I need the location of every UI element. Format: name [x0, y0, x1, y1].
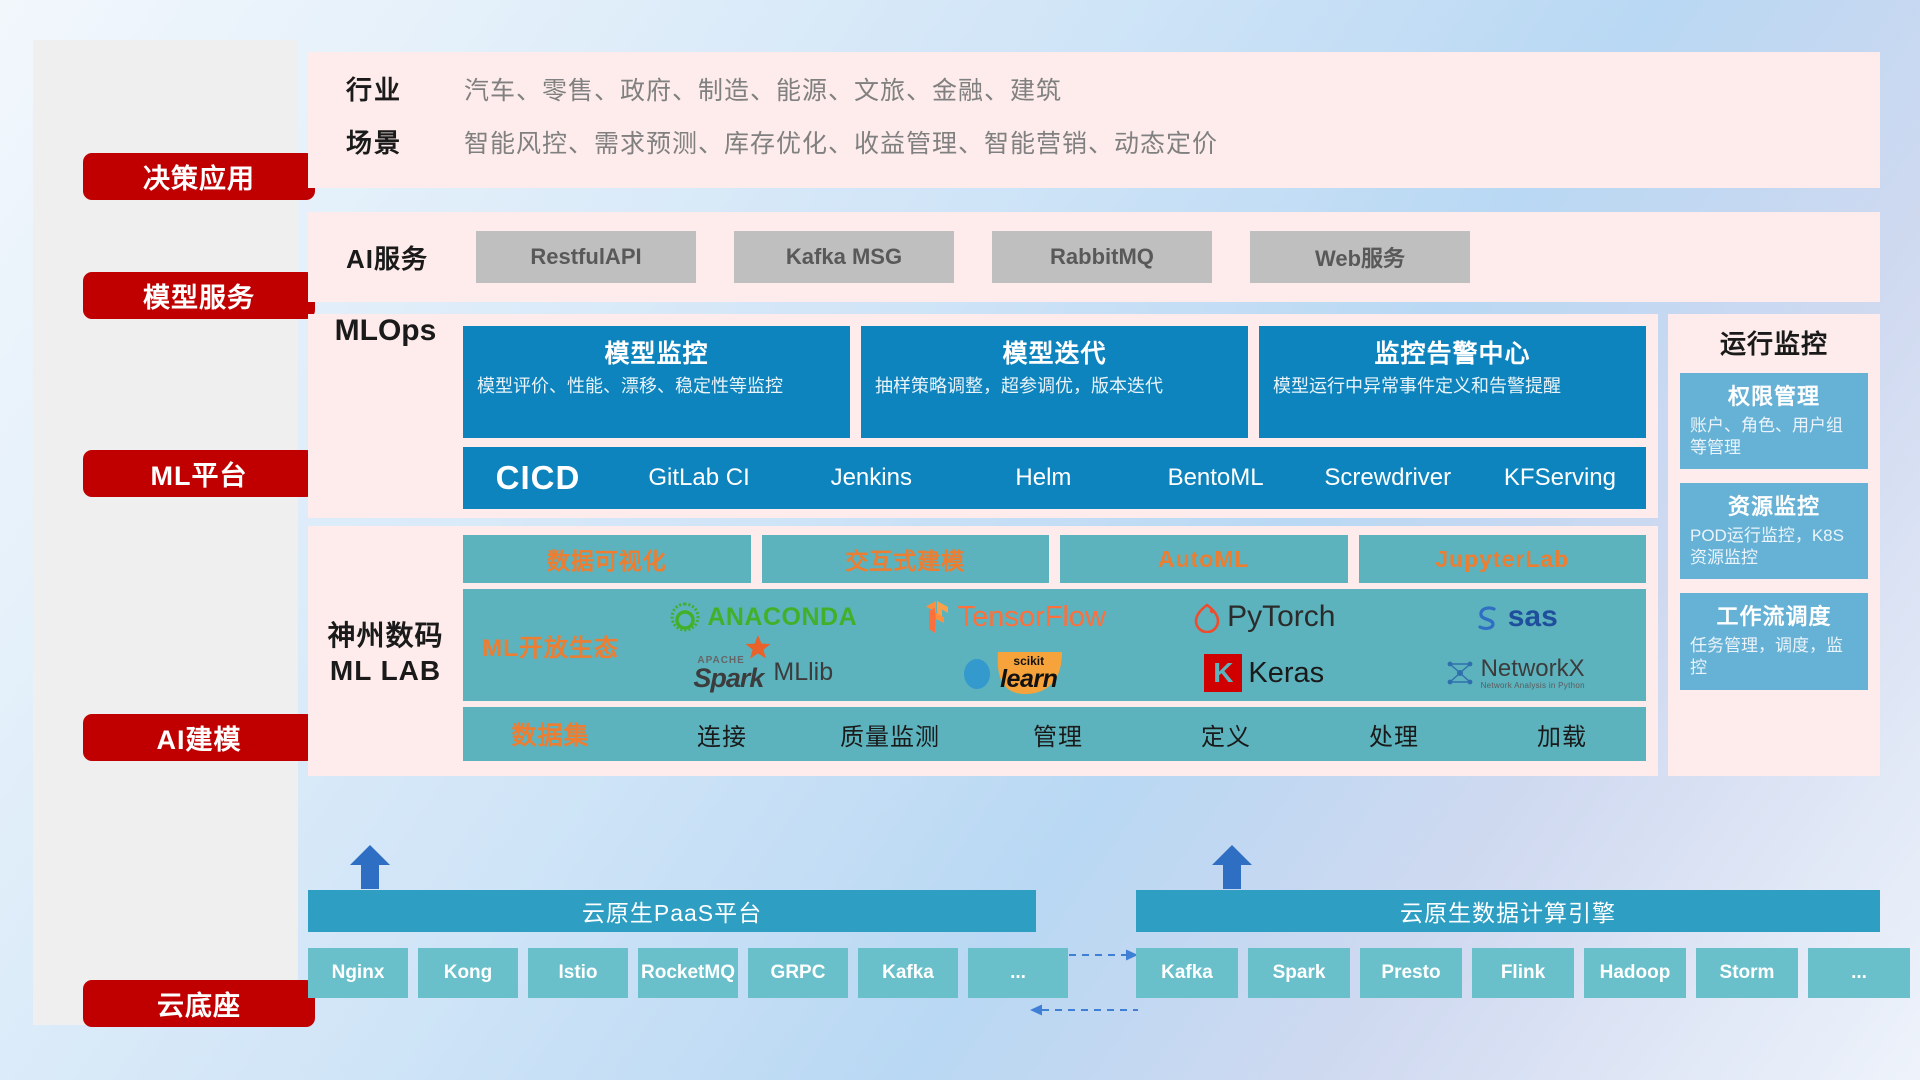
ai-service-band: AI服务 RestfulAPI Kafka MSG RabbitMQ Web服务: [308, 212, 1880, 302]
decision-application-band: 行业 汽车、零售、政府、制造、能源、文旅、金融、建筑 场景 智能风控、需求预测、…: [308, 52, 1880, 188]
monitor-card-desc: POD运行监控，K8S资源监控: [1690, 525, 1858, 569]
sas-logo: sas: [1472, 600, 1558, 634]
mlops-card-model-monitoring[interactable]: 模型监控 模型评价、性能、漂移、稳定性等监控: [463, 326, 850, 438]
tensorflow-logo-text: TensorFlow: [958, 601, 1106, 634]
pytorch-mark-icon: [1193, 601, 1221, 633]
stage-pill-label: ML平台: [151, 454, 248, 493]
up-arrow-data-engine-icon: [1210, 845, 1254, 889]
dataset-item-quality-monitor[interactable]: 质量监测: [806, 717, 974, 752]
cloud-chip-kafka[interactable]: Kafka: [858, 948, 958, 998]
cicd-item-list: GitLab CI Jenkins Helm BentoML Screwdriv…: [613, 464, 1646, 492]
dataset-bar: 数据集 连接 质量监测 管理 定义 处理 加载: [463, 707, 1646, 761]
tensorflow-mark-icon: [922, 600, 952, 634]
monitor-card-title: 权限管理: [1690, 379, 1858, 411]
scenario-row: 场景 智能风控、需求预测、库存优化、收益管理、智能营销、动态定价: [346, 123, 1880, 160]
cloud-chip-kafka-2[interactable]: Kafka: [1136, 948, 1238, 998]
cicd-item-bentoml[interactable]: BentoML: [1130, 464, 1302, 492]
cicd-item-jenkins[interactable]: Jenkins: [785, 464, 957, 492]
cloud-chip-storm[interactable]: Storm: [1696, 948, 1798, 998]
stage-pill-ml-platform[interactable]: ML平台: [83, 450, 315, 497]
dataset-item-process[interactable]: 处理: [1310, 717, 1478, 752]
anaconda-logo: ANACONDA: [669, 601, 857, 633]
ecosystem-logo-grid: ANACONDA TensorFlow: [638, 589, 1646, 701]
ml-lab-label-line1: 神州数码: [308, 618, 463, 653]
mlops-card-desc: 模型评价、性能、漂移、稳定性等监控: [477, 375, 836, 399]
keras-mark-icon: K: [1204, 654, 1242, 692]
stage-pill-decision-app[interactable]: 决策应用: [83, 153, 315, 200]
spark-logo-text: Spark: [693, 666, 763, 692]
cloud-native-data-engine-bar[interactable]: 云原生数据计算引擎: [1136, 890, 1880, 932]
ai-service-chip-restfulapi[interactable]: RestfulAPI: [476, 231, 696, 283]
ai-service-chip-rabbitmq[interactable]: RabbitMQ: [992, 231, 1212, 283]
anaconda-mark-icon: [669, 601, 701, 633]
stage-rail: 决策应用 模型服务 ML平台 AI建模 云底座: [33, 40, 298, 1025]
ai-service-chip-kafka-msg[interactable]: Kafka MSG: [734, 231, 954, 283]
scikit-learn-logo-text: learn: [990, 667, 1068, 692]
mlops-card-title: 模型监控: [477, 334, 836, 370]
networkx-logo-text: NetworkX: [1481, 657, 1585, 681]
scenario-label: 场景: [346, 123, 464, 160]
ml-lab-band: 神州数码 ML LAB 数据可视化 交互式建模 AutoML JupyterLa…: [308, 526, 1658, 776]
cloud-chip-rocketmq[interactable]: RocketMQ: [638, 948, 738, 998]
ml-lab-tab-data-visualization[interactable]: 数据可视化: [463, 535, 751, 583]
anaconda-logo-text: ANACONDA: [707, 603, 857, 632]
mlops-card-title: 模型迭代: [875, 334, 1234, 370]
dataset-title: 数据集: [463, 716, 638, 752]
stage-pill-label: 云底座: [157, 984, 241, 1023]
runtime-monitor-title: 运行监控: [1680, 324, 1868, 361]
dataset-item-define[interactable]: 定义: [1142, 717, 1310, 752]
cloud-native-paas-bar[interactable]: 云原生PaaS平台: [308, 890, 1036, 932]
industry-label: 行业: [346, 70, 464, 107]
networkx-tagline: Network Analysis in Python: [1481, 681, 1585, 690]
dataset-item-manage[interactable]: 管理: [974, 717, 1142, 752]
mlops-card-desc: 抽样策略调整，超参调优，版本迭代: [875, 375, 1234, 399]
data-engine-chip-row: Kafka Spark Presto Flink Hadoop Storm ..…: [1136, 948, 1910, 998]
ai-service-chip-web-service[interactable]: Web服务: [1250, 231, 1470, 283]
networkx-mark-icon: [1445, 658, 1475, 688]
cicd-item-gitlab-ci[interactable]: GitLab CI: [613, 464, 785, 492]
ai-service-label: AI服务: [346, 239, 476, 276]
stage-pill-cloud-base[interactable]: 云底座: [83, 980, 315, 1027]
mlops-label: MLOps: [308, 314, 463, 348]
cloud-chip-istio[interactable]: Istio: [528, 948, 628, 998]
scikit-blue-blob-icon: [960, 656, 994, 690]
sas-logo-text: sas: [1508, 600, 1558, 634]
runtime-monitor-panel: 运行监控 权限管理 账户、角色、用户组等管理 资源监控 POD运行监控，K8S资…: [1668, 314, 1880, 776]
dataset-item-load[interactable]: 加载: [1478, 717, 1646, 752]
cicd-bar: CICD GitLab CI Jenkins Helm BentoML Scre…: [463, 447, 1646, 509]
cloud-chip-spark[interactable]: Spark: [1248, 948, 1350, 998]
scenario-values: 智能风控、需求预测、库存优化、收益管理、智能营销、动态定价: [464, 124, 1218, 160]
mlops-card-alert-center[interactable]: 监控告警中心 模型运行中异常事件定义和告警提醒: [1259, 326, 1646, 438]
ml-open-ecosystem-band: ML开放生态 ANACONDA: [463, 589, 1646, 701]
pytorch-logo-text: PyTorch: [1227, 600, 1335, 634]
paas-chip-row: Nginx Kong Istio RocketMQ GRPC Kafka ...: [308, 948, 1068, 998]
up-arrow-paas-icon: [348, 845, 392, 889]
monitor-card-title: 工作流调度: [1690, 599, 1858, 631]
cloud-base-zone: 云原生PaaS平台 云原生数据计算引擎 Nginx Kong Istio Roc…: [308, 890, 1880, 1030]
cloud-chip-presto[interactable]: Presto: [1360, 948, 1462, 998]
cloud-chip-more[interactable]: ...: [968, 948, 1068, 998]
industry-values: 汽车、零售、政府、制造、能源、文旅、金融、建筑: [464, 71, 1062, 107]
ml-lab-tab-interactive-modeling[interactable]: 交互式建模: [762, 535, 1050, 583]
mlops-card-desc: 模型运行中异常事件定义和告警提醒: [1273, 375, 1632, 399]
networkx-logo: NetworkX Network Analysis in Python: [1445, 657, 1585, 690]
cicd-item-screwdriver[interactable]: Screwdriver: [1302, 464, 1474, 492]
architecture-diagram: 决策应用 模型服务 ML平台 AI建模 云底座 行业 汽车、零售、政府、制造、能…: [0, 0, 1920, 1080]
stage-pill-label: 决策应用: [143, 157, 255, 196]
cloud-chip-kong[interactable]: Kong: [418, 948, 518, 998]
industry-row: 行业 汽车、零售、政府、制造、能源、文旅、金融、建筑: [346, 70, 1880, 107]
cicd-title: CICD: [463, 459, 613, 497]
dataset-item-connect[interactable]: 连接: [638, 717, 806, 752]
spark-mllib-logo: APACHE Spark MLlib: [693, 655, 833, 692]
ml-open-ecosystem-title: ML开放生态: [463, 628, 638, 663]
ai-service-chip-list: RestfulAPI Kafka MSG RabbitMQ Web服务: [476, 231, 1470, 283]
cloud-chip-more-2[interactable]: ...: [1808, 948, 1910, 998]
cicd-item-helm[interactable]: Helm: [957, 464, 1129, 492]
mlops-card-model-iteration[interactable]: 模型迭代 抽样策略调整，超参调优，版本迭代: [861, 326, 1248, 438]
monitor-card-desc: 账户、角色、用户组等管理: [1690, 415, 1858, 459]
spark-star-icon: [745, 635, 771, 661]
ml-lab-label-line2: ML LAB: [308, 653, 463, 688]
cicd-item-kfserving[interactable]: KFServing: [1474, 464, 1646, 492]
mlops-band: MLOps 模型监控 模型评价、性能、漂移、稳定性等监控 模型迭代 抽样策略调整…: [308, 314, 1658, 518]
pytorch-logo: PyTorch: [1193, 600, 1335, 634]
cloud-chip-flink[interactable]: Flink: [1472, 948, 1574, 998]
keras-logo-text: Keras: [1248, 657, 1324, 690]
monitor-card-desc: 任务管理，调度，监控: [1690, 635, 1858, 679]
ml-lab-tab-automl[interactable]: AutoML: [1060, 535, 1348, 583]
monitor-card-permission-management[interactable]: 权限管理 账户、角色、用户组等管理: [1680, 373, 1868, 469]
monitor-card-title: 资源监控: [1690, 489, 1858, 521]
tensorflow-logo: TensorFlow: [922, 600, 1106, 634]
monitor-card-workflow-scheduling[interactable]: 工作流调度 任务管理，调度，监控: [1680, 593, 1868, 689]
scikit-learn-logo: scikit learn: [960, 654, 1068, 692]
mlops-card-title: 监控告警中心: [1273, 334, 1632, 370]
stage-pill-label: AI建模: [157, 718, 242, 757]
stage-pill-model-service[interactable]: 模型服务: [83, 272, 315, 319]
monitor-card-resource-monitoring[interactable]: 资源监控 POD运行监控，K8S资源监控: [1680, 483, 1868, 579]
mlops-body: 模型监控 模型评价、性能、漂移、稳定性等监控 模型迭代 抽样策略调整，超参调优，…: [463, 314, 1658, 509]
cloud-chip-hadoop[interactable]: Hadoop: [1584, 948, 1686, 998]
cloud-chip-nginx[interactable]: Nginx: [308, 948, 408, 998]
sas-mark-icon: [1472, 602, 1502, 632]
ml-lab-body: 数据可视化 交互式建模 AutoML JupyterLab ML开放生态: [463, 526, 1658, 761]
ml-lab-tab-jupyterlab[interactable]: JupyterLab: [1359, 535, 1647, 583]
stage-pill-label: 模型服务: [143, 276, 255, 315]
ml-lab-tab-list: 数据可视化 交互式建模 AutoML JupyterLab: [463, 535, 1646, 583]
mllib-logo-text: MLlib: [773, 658, 833, 687]
mlops-card-list: 模型监控 模型评价、性能、漂移、稳定性等监控 模型迭代 抽样策略调整，超参调优，…: [463, 326, 1646, 438]
stage-pill-ai-modeling[interactable]: AI建模: [83, 714, 315, 761]
keras-logo: K Keras: [1204, 654, 1324, 692]
dataset-item-list: 连接 质量监测 管理 定义 处理 加载: [638, 717, 1646, 752]
ml-lab-label: 神州数码 ML LAB: [308, 526, 463, 688]
cloud-chip-grpc[interactable]: GRPC: [748, 948, 848, 998]
